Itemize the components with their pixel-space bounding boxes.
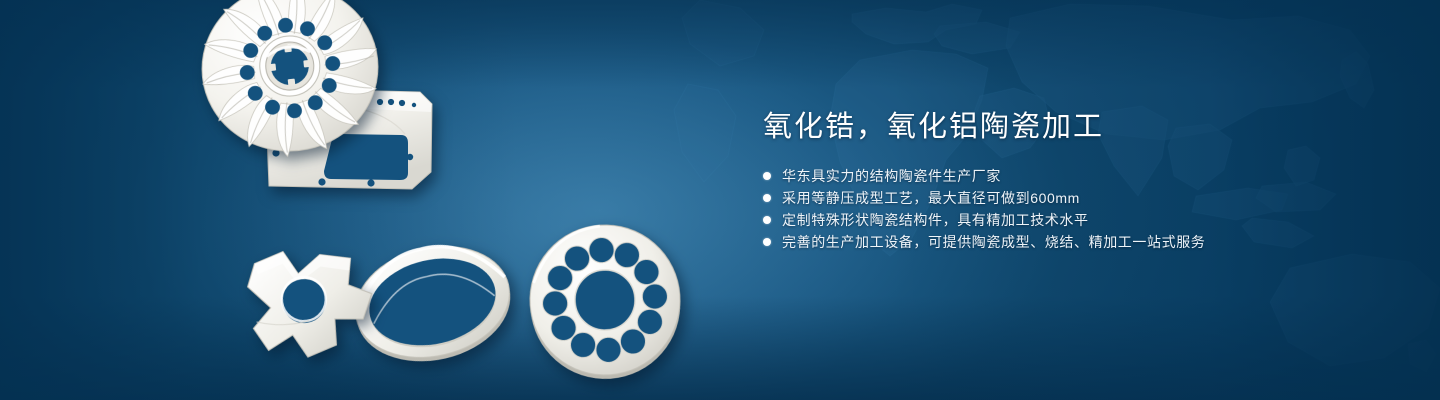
list-item: 定制特殊形状陶瓷结构件，具有精加工技术水平 bbox=[763, 209, 1383, 231]
product-photo-group bbox=[0, 0, 760, 400]
bullet-text: 定制特殊形状陶瓷结构件，具有精加工技术水平 bbox=[782, 209, 1089, 231]
bullet-text: 华东具实力的结构陶瓷件生产厂家 bbox=[782, 165, 1001, 187]
feature-bullet-list: 华东具实力的结构陶瓷件生产厂家 采用等静压成型工艺，最大直径可做到600mm 定… bbox=[763, 165, 1383, 253]
banner-copy: 氧化锆，氧化铝陶瓷加工 华东具实力的结构陶瓷件生产厂家 采用等静压成型工艺，最大… bbox=[763, 108, 1383, 253]
banner-headline: 氧化锆，氧化铝陶瓷加工 bbox=[763, 108, 1383, 146]
bullet-dot-icon bbox=[763, 194, 771, 202]
list-item: 完善的生产加工设备，可提供陶瓷成型、烧结、精加工一站式服务 bbox=[763, 231, 1383, 253]
list-item: 采用等静压成型工艺，最大直径可做到600mm bbox=[763, 187, 1383, 209]
list-item: 华东具实力的结构陶瓷件生产厂家 bbox=[763, 165, 1383, 187]
product-ceramic-cross-plate bbox=[243, 240, 379, 364]
bullet-dot-icon bbox=[763, 172, 771, 180]
bullet-text: 采用等静压成型工艺，最大直径可做到600mm bbox=[782, 187, 1080, 209]
product-ceramic-perforated-disc bbox=[525, 220, 685, 384]
product-ceramic-ring bbox=[344, 232, 521, 376]
bullet-dot-icon bbox=[763, 216, 771, 224]
bullet-dot-icon bbox=[763, 238, 771, 246]
bullet-text: 完善的生产加工设备，可提供陶瓷成型、烧结、精加工一站式服务 bbox=[782, 231, 1205, 253]
hero-banner: 氧化锆，氧化铝陶瓷加工 华东具实力的结构陶瓷件生产厂家 采用等静压成型工艺，最大… bbox=[0, 0, 1440, 400]
